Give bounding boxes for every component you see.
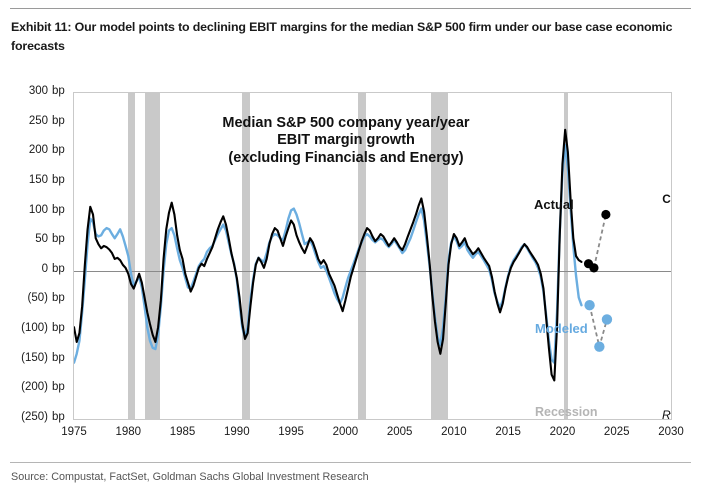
chart-title-line: EBIT margin growth [186, 132, 506, 149]
y-axis-tick-label: 100bp [4, 204, 68, 216]
x-axis-tick-label: 1980 [108, 426, 148, 438]
chart-title-line: Median S&P 500 company year/year [186, 115, 506, 132]
y-axis-tick-label: (100)bp [4, 322, 68, 334]
consensus-forecast-connector [589, 215, 606, 268]
y-axis-tick-label: 0bp [4, 263, 68, 275]
consensus-forecast-point [589, 263, 598, 272]
x-axis-tick-label: 2010 [434, 426, 474, 438]
x-axis-tick-label: 1995 [271, 426, 311, 438]
consensus-forecast-point [601, 210, 610, 219]
y-axis-tick-label: 200bp [4, 144, 68, 156]
y-axis-tick-label: 50bp [4, 233, 68, 245]
x-axis-tick-label: 2015 [488, 426, 528, 438]
modeled-series-line [74, 145, 581, 363]
footer-divider [10, 462, 691, 463]
chart-container: 300bp250bp200bp150bp100bp50bp0bp(50)bp(1… [0, 82, 701, 442]
y-axis-tick-label: (150)bp [4, 352, 68, 364]
y-axis-tick-label: (250)bp [4, 411, 68, 423]
plot-area: Median S&P 500 company year/yearEBIT mar… [73, 92, 672, 420]
consensus-forecast-line: Consensus [652, 193, 672, 207]
x-axis-tick-label: 2000 [325, 426, 365, 438]
modeled-series-label: Modeled [535, 321, 588, 336]
consensus-forecast-line: forecast [652, 207, 672, 221]
x-axis-tick-label: 2025 [597, 426, 637, 438]
consensus-forecast-label: Consensusforecast [652, 193, 672, 221]
x-axis-tick-label: 1985 [163, 426, 203, 438]
source-note: Source: Compustat, FactSet, Goldman Sach… [11, 471, 369, 483]
modeled-forecast-point [602, 314, 612, 324]
y-axis-tick-label: (200)bp [4, 381, 68, 393]
modeled-forecast-connector [590, 305, 607, 346]
x-axis-tick-label: 2005 [380, 426, 420, 438]
x-axis-tick-label: 1975 [54, 426, 94, 438]
chart-title-annotation: Median S&P 500 company year/yearEBIT mar… [186, 115, 506, 167]
x-axis-tick-label: 1990 [217, 426, 257, 438]
modeled-forecast-point [584, 300, 594, 310]
r-squared-annotation: R2 =0.64 [662, 406, 672, 420]
modeled-forecast-point [594, 341, 604, 351]
x-axis-tick-label: 2020 [542, 426, 582, 438]
chart-title-line: (excluding Financials and Energy) [186, 150, 506, 167]
recession-legend-label: Recession [535, 405, 598, 420]
page-title: Exhibit 11: Our model points to declinin… [11, 18, 691, 56]
actual-series-label: Actual [534, 197, 574, 212]
y-axis-tick-label: 250bp [4, 115, 68, 127]
y-axis-tick-label: 150bp [4, 174, 68, 186]
header-divider [10, 8, 691, 9]
x-axis-tick-label: 2030 [651, 426, 691, 438]
y-axis-tick-label: 300bp [4, 85, 68, 97]
y-axis-tick-label: (50)bp [4, 292, 68, 304]
